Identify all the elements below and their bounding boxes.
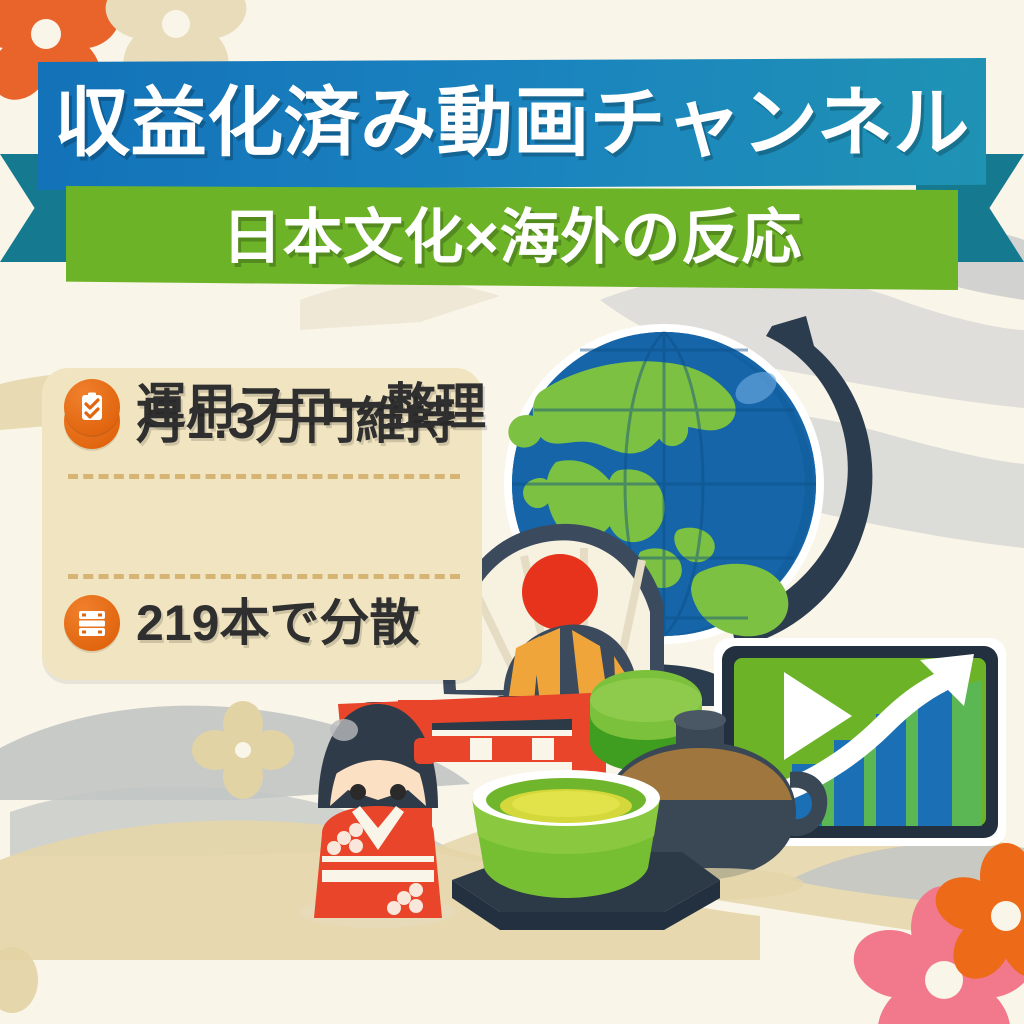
feature-row-workflow: 運用フロー整理 <box>64 368 486 446</box>
banner-title-bar: 収益化済み動画チャンネル <box>38 58 986 190</box>
feature-row-video-count: 219本で分散 <box>64 584 419 662</box>
feature-divider-2 <box>68 574 460 579</box>
feature-label: 219本で分散 <box>136 595 419 651</box>
feature-divider-1 <box>68 474 460 479</box>
page-subtitle: 日本文化×海外の反応 <box>66 200 958 276</box>
banner: 収益化済み動画チャンネル 日本文化×海外の反応 <box>0 58 1024 298</box>
banner-subtitle-bar: 日本文化×海外の反応 <box>66 186 958 290</box>
checklist-clipboard-icon <box>64 379 120 435</box>
poster-canvas: 収益化済み動画チャンネル 日本文化×海外の反応 月1.3万円維持 <box>0 0 1024 1024</box>
feature-card: 月1.3万円維持 219本で分散 <box>42 368 482 680</box>
film-strip-icon <box>64 595 120 651</box>
feature-label: 運用フロー整理 <box>136 379 486 435</box>
page-title: 収益化済み動画チャンネル <box>38 76 986 172</box>
